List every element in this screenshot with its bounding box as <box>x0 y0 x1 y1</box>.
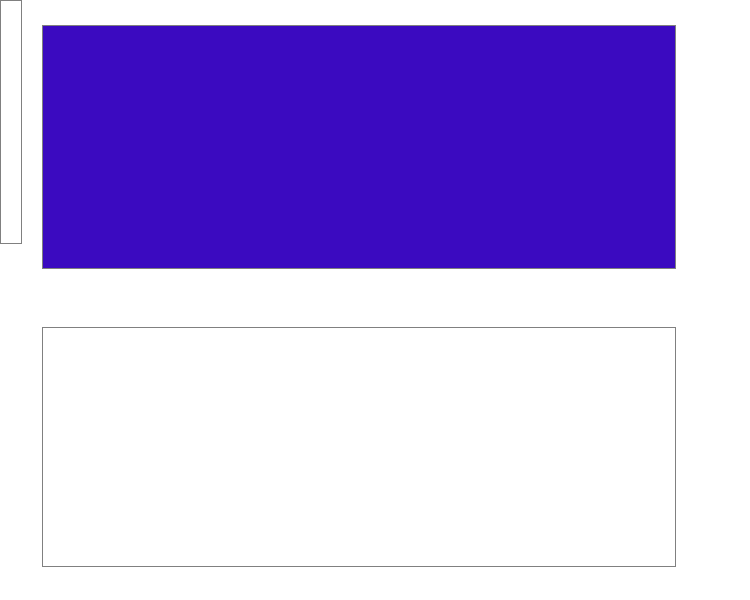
snr-plot-area <box>42 327 676 567</box>
snr-line-trace <box>43 328 675 566</box>
figure-canvas <box>0 0 750 600</box>
colorbar <box>0 0 22 244</box>
